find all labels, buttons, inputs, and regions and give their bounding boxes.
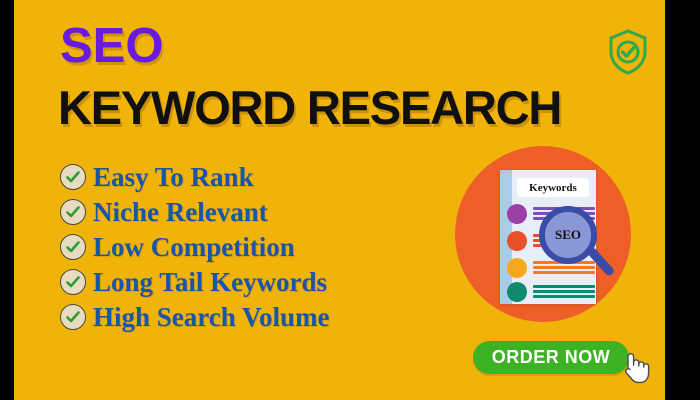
row-dot-orange: [507, 258, 527, 278]
card-title-label: Keywords: [529, 182, 577, 194]
row-dot-teal: [507, 282, 527, 302]
page-title: KEYWORD RESEARCH: [58, 84, 561, 131]
row-dot-purple: [507, 204, 527, 224]
check-circle-icon: [60, 199, 86, 225]
feature-label: High Search Volume: [93, 304, 330, 331]
row-dot-red: [507, 231, 527, 251]
feature-label: Long Tail Keywords: [93, 269, 327, 296]
list-item: Niche Relevant: [60, 195, 460, 229]
magnifier-lens: SEO: [539, 206, 597, 264]
order-now-label: ORDER NOW: [492, 347, 611, 368]
shield-check-icon: [606, 28, 650, 76]
feature-label: Niche Relevant: [93, 199, 268, 226]
check-circle-icon: [60, 234, 86, 260]
list-item: Long Tail Keywords: [60, 265, 460, 299]
list-item: Low Competition: [60, 230, 460, 264]
check-circle-icon: [60, 164, 86, 190]
feature-list: Easy To Rank Niche Relevant Low Competit…: [60, 160, 460, 335]
feature-label: Low Competition: [93, 234, 295, 261]
banner-canvas: SEO KEYWORD RESEARCH Easy To Rank: [0, 0, 700, 400]
card-title-pill: Keywords: [517, 178, 589, 197]
page-eyebrow: SEO: [60, 22, 163, 71]
banner-stage: SEO KEYWORD RESEARCH Easy To Rank: [14, 0, 665, 400]
order-now-button[interactable]: ORDER NOW: [473, 341, 629, 374]
feature-label: Easy To Rank: [93, 164, 254, 191]
check-circle-icon: [60, 269, 86, 295]
seo-illustration: Keywords: [455, 146, 631, 322]
hand-pointer-icon: [620, 348, 650, 384]
check-circle-icon: [60, 304, 86, 330]
list-item: High Search Volume: [60, 300, 460, 334]
magnifier-label: SEO: [555, 227, 581, 243]
list-item: Easy To Rank: [60, 160, 460, 194]
card-row: [507, 282, 595, 304]
magnifier-icon: SEO: [539, 206, 597, 264]
row-lines: [533, 285, 595, 300]
